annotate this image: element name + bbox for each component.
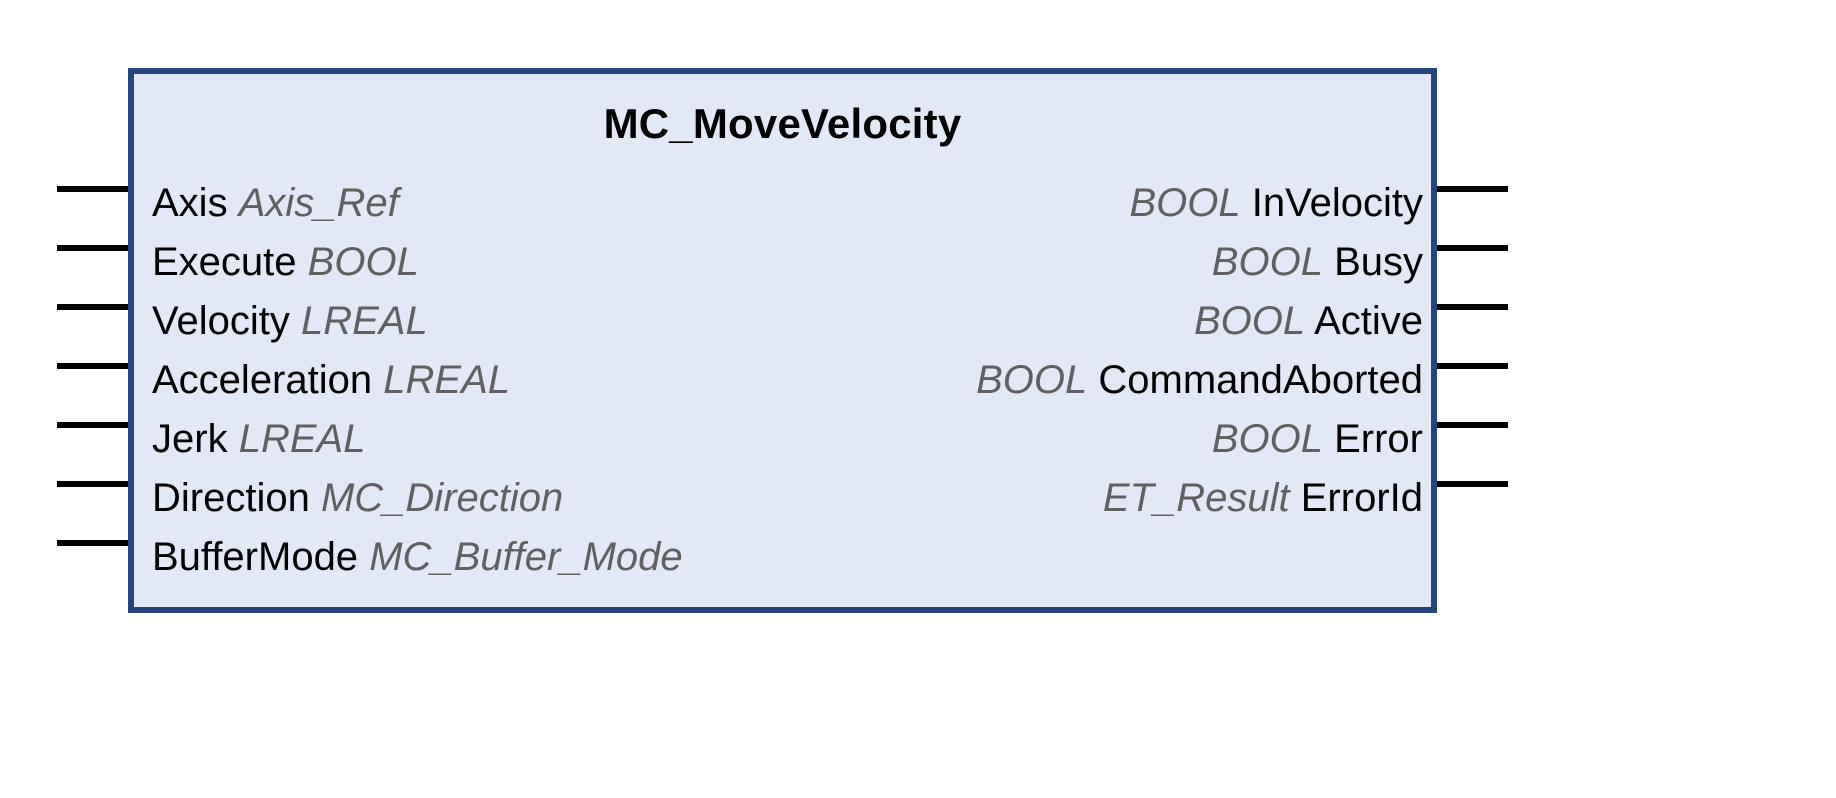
output-pin-invelocity[interactable]: BOOL InVelocity bbox=[976, 174, 1423, 233]
diagram-canvas: MC_MoveVelocity Axis Axis_Ref Execute BO… bbox=[0, 0, 1836, 798]
output-pin-name: ErrorId bbox=[1301, 476, 1423, 520]
input-pin-type: BOOL bbox=[308, 240, 419, 284]
input-pin-type: MC_Direction bbox=[321, 476, 563, 520]
output-pin-name: Active bbox=[1314, 299, 1423, 343]
output-wire-stub-commandaborted[interactable] bbox=[1431, 363, 1508, 369]
output-pin-error[interactable]: BOOL Error bbox=[976, 410, 1423, 469]
output-pin-list: BOOL InVelocity BOOL Busy BOOL Active BO… bbox=[976, 174, 1423, 528]
output-pin-type: BOOL bbox=[1130, 181, 1241, 225]
input-pin-direction[interactable]: Direction MC_Direction bbox=[152, 469, 683, 528]
input-pin-type: LREAL bbox=[383, 358, 510, 402]
input-pin-list: Axis Axis_Ref Execute BOOL Velocity LREA… bbox=[152, 174, 683, 587]
output-wire-stub-error[interactable] bbox=[1431, 422, 1508, 428]
input-pin-jerk[interactable]: Jerk LREAL bbox=[152, 410, 683, 469]
input-wire-stub-jerk[interactable] bbox=[57, 422, 134, 428]
input-pin-name: Execute bbox=[152, 240, 297, 284]
input-pin-type: LREAL bbox=[239, 417, 366, 461]
input-wire-stub-acceleration[interactable] bbox=[57, 363, 134, 369]
input-pin-buffermode[interactable]: BufferMode MC_Buffer_Mode bbox=[152, 528, 683, 587]
input-wire-stub-axis[interactable] bbox=[57, 186, 134, 192]
output-pin-name: Busy bbox=[1334, 240, 1423, 284]
output-pin-errorid[interactable]: ET_Result ErrorId bbox=[976, 469, 1423, 528]
function-block-title: MC_MoveVelocity bbox=[134, 100, 1431, 148]
input-pin-acceleration[interactable]: Acceleration LREAL bbox=[152, 351, 683, 410]
input-pin-axis[interactable]: Axis Axis_Ref bbox=[152, 174, 683, 233]
input-pin-type: MC_Buffer_Mode bbox=[369, 535, 682, 579]
input-pin-type: Axis_Ref bbox=[239, 181, 399, 225]
input-pin-name: Jerk bbox=[152, 417, 228, 461]
output-wire-stub-busy[interactable] bbox=[1431, 245, 1508, 251]
output-pin-type: ET_Result bbox=[1103, 476, 1290, 520]
output-pin-type: BOOL bbox=[1212, 417, 1323, 461]
output-pin-active[interactable]: BOOL Active bbox=[976, 292, 1423, 351]
output-pin-type: BOOL bbox=[1194, 299, 1305, 343]
output-wire-stub-invelocity[interactable] bbox=[1431, 186, 1508, 192]
output-pin-commandaborted[interactable]: BOOL CommandAborted bbox=[976, 351, 1423, 410]
input-pin-name: Velocity bbox=[152, 299, 290, 343]
output-wire-stub-errorid[interactable] bbox=[1431, 481, 1508, 487]
input-wire-stub-velocity[interactable] bbox=[57, 304, 134, 310]
input-pin-name: Direction bbox=[152, 476, 310, 520]
output-pin-type: BOOL bbox=[1212, 240, 1323, 284]
input-pin-execute[interactable]: Execute BOOL bbox=[152, 233, 683, 292]
output-pin-busy[interactable]: BOOL Busy bbox=[976, 233, 1423, 292]
input-wire-stub-direction[interactable] bbox=[57, 481, 134, 487]
input-pin-name: BufferMode bbox=[152, 535, 358, 579]
input-wire-stub-execute[interactable] bbox=[57, 245, 134, 251]
input-pin-type: LREAL bbox=[301, 299, 428, 343]
output-pin-name: InVelocity bbox=[1252, 181, 1423, 225]
input-pin-velocity[interactable]: Velocity LREAL bbox=[152, 292, 683, 351]
output-pin-name: CommandAborted bbox=[1098, 358, 1423, 402]
output-pin-type: BOOL bbox=[976, 358, 1087, 402]
output-wire-stub-active[interactable] bbox=[1431, 304, 1508, 310]
output-pin-name: Error bbox=[1334, 417, 1423, 461]
input-wire-stub-buffermode[interactable] bbox=[57, 540, 134, 546]
input-pin-name: Acceleration bbox=[152, 358, 372, 402]
input-pin-name: Axis bbox=[152, 181, 228, 225]
function-block[interactable]: MC_MoveVelocity Axis Axis_Ref Execute BO… bbox=[128, 68, 1437, 613]
